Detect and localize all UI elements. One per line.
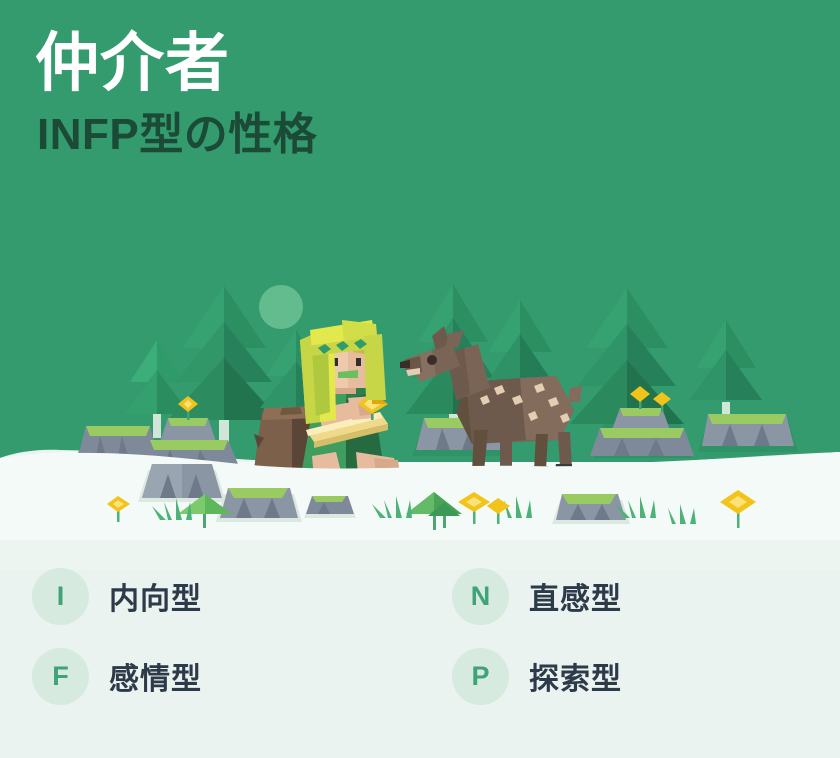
trait-item-intuitive[interactable]: N 直感型: [420, 556, 840, 636]
trait-item-feeling[interactable]: F 感情型: [0, 636, 420, 716]
trait-letter: F: [52, 663, 69, 690]
hero-text-block: 仲介者 INFP型の性格: [35, 26, 317, 161]
trait-list: I 内向型 N 直感型 F 感情型 P 探索型: [0, 556, 840, 758]
hero-illustration: 仲介者 INFP型の性格: [0, 0, 840, 470]
moon-circle: [259, 285, 303, 329]
deer-eye: [427, 355, 437, 365]
foreground-rock: [552, 494, 630, 524]
foreground-rock: [138, 464, 226, 502]
trait-label: 直感型: [529, 574, 622, 618]
personality-type-card: 仲介者 INFP型の性格: [0, 0, 840, 758]
foreground-snow-strip: [0, 440, 840, 570]
foreground-rock: [216, 488, 302, 522]
trait-letter: P: [471, 663, 489, 690]
trait-item-introverted[interactable]: I 内向型: [0, 556, 420, 636]
trait-letter: I: [57, 583, 65, 610]
trait-badge-icon: P: [452, 648, 509, 705]
trait-label: 感情型: [109, 654, 202, 698]
trait-label: 内向型: [109, 574, 202, 618]
trait-item-prospecting[interactable]: P 探索型: [420, 636, 840, 716]
trait-letter: N: [471, 583, 491, 610]
foreground-rock: [304, 496, 356, 518]
trait-label: 探索型: [529, 654, 622, 698]
trait-badge-icon: F: [32, 648, 89, 705]
eye: [356, 358, 361, 366]
page-title: 仲介者: [35, 26, 317, 100]
deer-tail: [568, 386, 582, 402]
trait-badge-icon: N: [452, 568, 509, 625]
page-subtitle: INFP型の性格: [37, 110, 317, 161]
trait-badge-icon: I: [32, 568, 89, 625]
